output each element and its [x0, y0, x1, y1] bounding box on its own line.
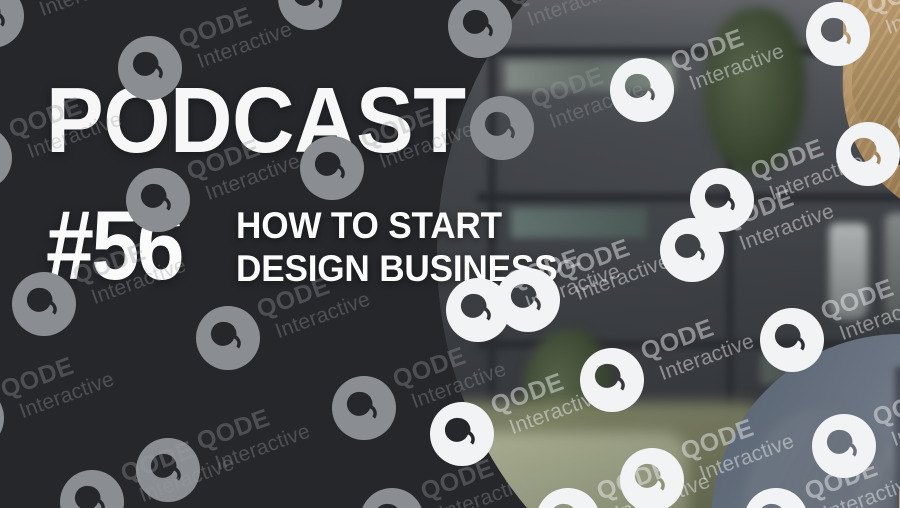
qode-circle-logo-icon [278, 0, 342, 30]
watermark-brand-primary: QODE [0, 342, 109, 403]
subtitle-line-1: HOW TO START [236, 207, 502, 244]
watermark-brand-primary: QODE [18, 0, 129, 1]
watermark-brand-secondary: Interactive [17, 368, 117, 422]
watermark-text: QODEInteractive [194, 394, 313, 477]
watermark-brand-primary: QODE [176, 0, 287, 53]
qode-circle-logo-icon [196, 306, 260, 370]
watermark-tile: QODEInteractive [60, 452, 256, 508]
qode-circle-logo-icon [0, 0, 24, 48]
books-row [505, 61, 675, 91]
watermark-tile: QODEInteractive [196, 288, 392, 392]
books-row [511, 208, 647, 238]
watermark-text: QODEInteractive [0, 342, 117, 425]
watermark-text: QODEInteractive [118, 426, 237, 508]
shirt [711, 334, 900, 508]
watermark-brand-secondary: Interactive [273, 288, 373, 342]
episode-number: #56 [46, 196, 182, 294]
subtitle-line-2: DESIGN BUSINESS [236, 250, 557, 287]
qode-circle-logo-icon [0, 126, 12, 190]
watermark-brand-secondary: Interactive [213, 420, 313, 474]
watermark-brand-secondary: Interactive [37, 0, 137, 20]
qode-circle-logo-icon [60, 470, 124, 508]
watermark-tile: QODEInteractive [136, 420, 332, 508]
watermark-brand-primary: QODE [118, 426, 229, 487]
qode-circle-logo-icon [0, 386, 4, 450]
watermark-text: QODEInteractive [18, 0, 137, 24]
watermark-tile: QODEInteractive [0, 368, 136, 472]
qode-circle-logo-icon [360, 488, 424, 508]
qode-circle-logo-icon [136, 438, 200, 502]
watermark-brand-secondary: Interactive [137, 452, 237, 506]
guest-figure [693, 0, 900, 508]
watermark-brand-secondary: Interactive [195, 18, 295, 72]
qode-circle-logo-icon [332, 376, 396, 440]
watermark-tile: QODEInteractive [0, 0, 156, 70]
podcast-cover-canvas: PODCAST #56 HOW TO START DESIGN BUSINESS… [0, 0, 900, 508]
watermark-brand-primary: QODE [194, 394, 305, 455]
page-title: PODCAST [46, 74, 466, 167]
cushion [463, 432, 687, 508]
watermark-text: QODEInteractive [176, 0, 295, 76]
